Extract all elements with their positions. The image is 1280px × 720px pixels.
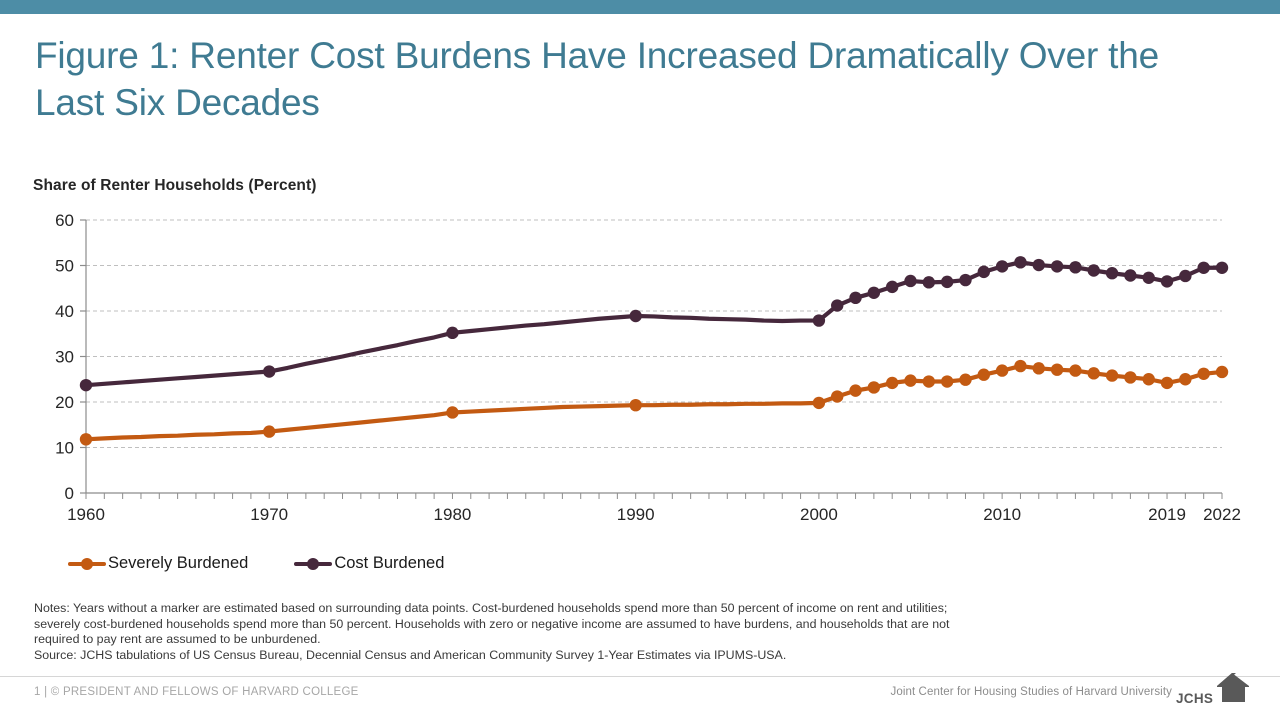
x-tick-label: 2000 bbox=[800, 505, 838, 524]
data-point-marker bbox=[831, 390, 843, 402]
data-point-marker bbox=[941, 375, 953, 387]
x-tick-label: 2019 bbox=[1148, 505, 1186, 524]
y-tick-label: 20 bbox=[55, 393, 74, 412]
data-point-marker bbox=[923, 375, 935, 387]
notes-line-2: severely cost-burdened households spend … bbox=[34, 617, 1154, 633]
data-point-marker bbox=[1069, 364, 1081, 376]
data-point-marker bbox=[1106, 369, 1118, 381]
line-marker-icon bbox=[294, 557, 332, 571]
data-point-marker bbox=[1143, 272, 1155, 284]
data-point-marker bbox=[849, 292, 861, 304]
data-point-marker bbox=[446, 406, 458, 418]
legend-item-severely-burdened[interactable]: Severely Burdened bbox=[68, 554, 248, 573]
data-point-marker bbox=[978, 266, 990, 278]
data-point-marker bbox=[868, 381, 880, 393]
data-point-marker bbox=[1197, 262, 1209, 274]
data-point-marker bbox=[1161, 377, 1173, 389]
chart-notes: Notes: Years without a marker are estima… bbox=[34, 601, 1154, 663]
data-point-marker bbox=[886, 377, 898, 389]
footer-copyright: 1 | © PRESIDENT AND FELLOWS OF HARVARD C… bbox=[34, 686, 359, 698]
x-tick-label: 1960 bbox=[67, 505, 105, 524]
data-point-marker bbox=[446, 327, 458, 339]
legend-label: Severely Burdened bbox=[108, 554, 248, 573]
data-point-marker bbox=[1106, 267, 1118, 279]
data-point-marker bbox=[1069, 261, 1081, 273]
x-tick-label: 2022 bbox=[1203, 505, 1241, 524]
data-point-marker bbox=[80, 433, 92, 445]
slide-page: Figure 1: Renter Cost Burdens Have Incre… bbox=[0, 0, 1280, 720]
y-tick-label: 10 bbox=[55, 439, 74, 458]
data-point-marker bbox=[813, 397, 825, 409]
data-point-marker bbox=[1033, 362, 1045, 374]
y-tick-label: 50 bbox=[55, 257, 74, 276]
data-point-marker bbox=[1161, 275, 1173, 287]
data-point-marker bbox=[1216, 262, 1228, 274]
notes-line-3: required to pay rent are assumed to be u… bbox=[34, 632, 1154, 648]
data-point-marker bbox=[629, 399, 641, 411]
notes-line-1: Notes: Years without a marker are estima… bbox=[34, 601, 1154, 617]
data-point-marker bbox=[1014, 256, 1026, 268]
data-point-marker bbox=[1179, 373, 1191, 385]
x-tick-label: 1990 bbox=[617, 505, 655, 524]
data-point-marker bbox=[996, 364, 1008, 376]
data-point-marker bbox=[1051, 260, 1063, 272]
x-tick-label: 1970 bbox=[250, 505, 288, 524]
x-tick-label: 2010 bbox=[983, 505, 1021, 524]
data-point-marker bbox=[831, 299, 843, 311]
data-point-marker bbox=[868, 287, 880, 299]
data-point-marker bbox=[996, 260, 1008, 272]
legend-item-cost-burdened[interactable]: Cost Burdened bbox=[294, 554, 444, 573]
data-point-marker bbox=[1051, 363, 1063, 375]
data-point-marker bbox=[1088, 367, 1100, 379]
data-point-marker bbox=[1124, 269, 1136, 281]
data-point-marker bbox=[629, 310, 641, 322]
data-point-marker bbox=[904, 275, 916, 287]
line-marker-icon bbox=[68, 557, 106, 571]
y-tick-label: 30 bbox=[55, 348, 74, 367]
y-tick-label: 0 bbox=[65, 484, 74, 503]
jchs-wordmark: JCHS bbox=[1176, 691, 1213, 706]
data-point-marker bbox=[886, 281, 898, 293]
footer-organization: Joint Center for Housing Studies of Harv… bbox=[890, 686, 1172, 698]
legend-label: Cost Burdened bbox=[334, 554, 444, 573]
data-point-marker bbox=[904, 374, 916, 386]
data-point-marker bbox=[1197, 368, 1209, 380]
data-point-marker bbox=[1088, 264, 1100, 276]
data-point-marker bbox=[941, 276, 953, 288]
series-line bbox=[86, 366, 1222, 439]
data-point-marker bbox=[813, 314, 825, 326]
x-tick-label: 1980 bbox=[434, 505, 472, 524]
notes-source: Source: JCHS tabulations of US Census Bu… bbox=[34, 648, 1154, 664]
data-point-marker bbox=[1216, 366, 1228, 378]
chart-legend: Severely Burdened Cost Burdened bbox=[68, 554, 490, 573]
data-point-marker bbox=[849, 384, 861, 396]
data-point-marker bbox=[1179, 270, 1191, 282]
data-point-marker bbox=[959, 274, 971, 286]
data-point-marker bbox=[923, 276, 935, 288]
data-point-marker bbox=[263, 365, 275, 377]
data-point-marker bbox=[263, 425, 275, 437]
chart-axis-title: Share of Renter Households (Percent) bbox=[33, 177, 317, 195]
data-point-marker bbox=[1143, 373, 1155, 385]
jchs-logo: JCHS bbox=[1176, 672, 1252, 712]
data-point-marker bbox=[1014, 360, 1026, 372]
data-point-marker bbox=[1033, 259, 1045, 271]
data-point-marker bbox=[1124, 371, 1136, 383]
data-point-marker bbox=[978, 369, 990, 381]
top-banner bbox=[0, 0, 1280, 14]
data-point-marker bbox=[80, 379, 92, 391]
page-title: Figure 1: Renter Cost Burdens Have Incre… bbox=[35, 32, 1215, 126]
y-tick-label: 60 bbox=[55, 211, 74, 230]
y-tick-label: 40 bbox=[55, 302, 74, 321]
data-point-marker bbox=[959, 374, 971, 386]
series-line bbox=[86, 262, 1222, 385]
footer-divider bbox=[0, 676, 1280, 677]
